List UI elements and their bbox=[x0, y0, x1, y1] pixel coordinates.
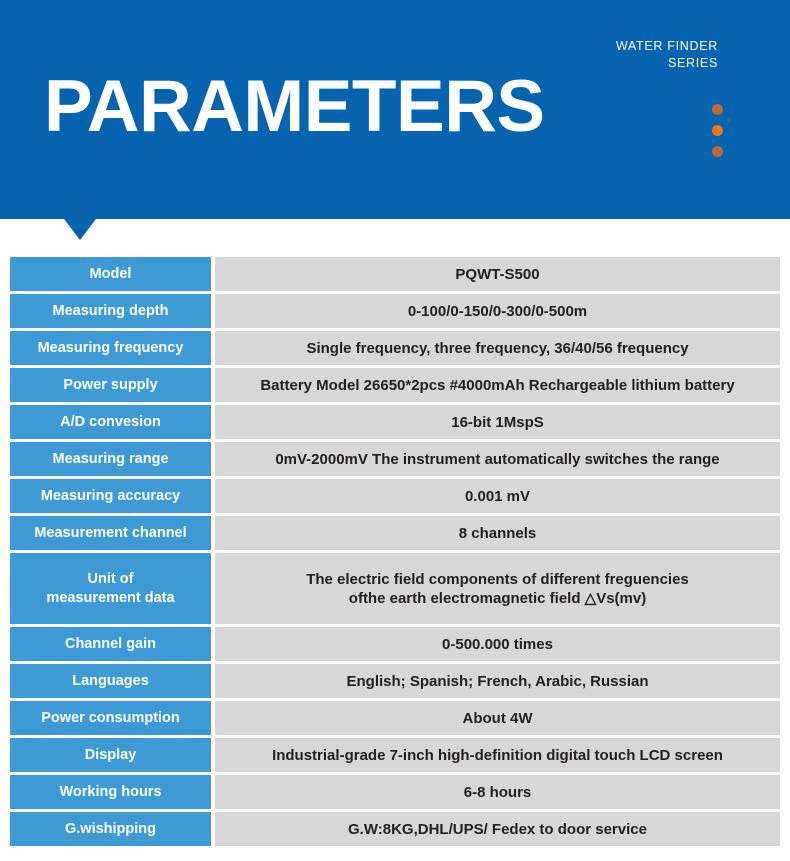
spec-value-cell: Battery Model 26650*2pcs #4000mAh Rechar… bbox=[215, 368, 780, 405]
dot-icon-3 bbox=[712, 146, 723, 157]
spec-value-cell: 0mV-2000mV The instrument automatically … bbox=[215, 442, 780, 479]
header-pointer-triangle bbox=[64, 219, 96, 240]
table-row: Channel gain0-500.000 times bbox=[10, 627, 780, 664]
series-label-line2: SERIES bbox=[616, 55, 718, 72]
series-label: WATER FINDER SERIES bbox=[616, 38, 718, 72]
spec-label-cell: Measurement channel bbox=[10, 516, 215, 553]
spec-label-cell: Model bbox=[10, 257, 215, 294]
spec-value-cell: Industrial-grade 7-inch high-definition … bbox=[215, 738, 780, 775]
table-row: Measuring depth0-100/0-150/0-300/0-500m bbox=[10, 294, 780, 331]
spec-value-cell: About 4W bbox=[215, 701, 780, 738]
table-row: Unit of measurement dataThe electric fie… bbox=[10, 553, 780, 627]
table-row: Measuring frequencySingle frequency, thr… bbox=[10, 331, 780, 368]
spec-value-cell: G.W:8KG,DHL/UPS/ Fedex to door service bbox=[215, 812, 780, 849]
table-row: Power consumptionAbout 4W bbox=[10, 701, 780, 738]
decorative-dots bbox=[712, 104, 726, 167]
table-row: ModelPQWT-S500 bbox=[10, 257, 780, 294]
spec-label-cell: Measuring depth bbox=[10, 294, 215, 331]
spec-value-cell: English; Spanish; French, Arabic, Russia… bbox=[215, 664, 780, 701]
spec-label-cell: Power supply bbox=[10, 368, 215, 405]
spec-value-cell: 0-500.000 times bbox=[215, 627, 780, 664]
series-label-line1: WATER FINDER bbox=[616, 38, 718, 55]
spec-value-cell: 0.001 mV bbox=[215, 479, 780, 516]
spec-value-cell: 0-100/0-150/0-300/0-500m bbox=[215, 294, 780, 331]
table-row: Measurement channel8 channels bbox=[10, 516, 780, 553]
spec-value-cell: Single frequency, three frequency, 36/40… bbox=[215, 331, 780, 368]
spec-label-cell: A/D convesion bbox=[10, 405, 215, 442]
table-row: G.wishippingG.W:8KG,DHL/UPS/ Fedex to do… bbox=[10, 812, 780, 849]
spec-label-cell: Power consumption bbox=[10, 701, 215, 738]
table-row: Power supplyBattery Model 26650*2pcs #40… bbox=[10, 368, 780, 405]
spec-value-cell: 8 channels bbox=[215, 516, 780, 553]
spec-label-cell: Measuring frequency bbox=[10, 331, 215, 368]
spec-value-cell: The electric field components of differe… bbox=[215, 553, 780, 627]
spec-label-cell: Languages bbox=[10, 664, 215, 701]
dot-icon-2 bbox=[712, 125, 723, 136]
specifications-table: ModelPQWT-S500Measuring depth0-100/0-150… bbox=[10, 257, 780, 849]
table-row: LanguagesEnglish; Spanish; French, Arabi… bbox=[10, 664, 780, 701]
table-row: DisplayIndustrial-grade 7-inch high-defi… bbox=[10, 738, 780, 775]
spec-value-cell: 16-bit 1MspS bbox=[215, 405, 780, 442]
table-row: Measuring range0mV-2000mV The instrument… bbox=[10, 442, 780, 479]
spec-label-cell: Measuring range bbox=[10, 442, 215, 479]
spec-label-cell: Channel gain bbox=[10, 627, 215, 664]
table-row: Measuring accuracy0.001 mV bbox=[10, 479, 780, 516]
page-header: PARAMETERS WATER FINDER SERIES bbox=[0, 0, 790, 219]
table-row: Working hours6-8 hours bbox=[10, 775, 780, 812]
spec-value-cell: PQWT-S500 bbox=[215, 257, 780, 294]
table-row: A/D convesion16-bit 1MspS bbox=[10, 405, 780, 442]
page-title: PARAMETERS bbox=[44, 70, 545, 143]
spec-label-cell: Unit of measurement data bbox=[10, 553, 215, 627]
spec-label-cell: Measuring accuracy bbox=[10, 479, 215, 516]
spec-value-cell: 6-8 hours bbox=[215, 775, 780, 812]
spec-label-cell: Display bbox=[10, 738, 215, 775]
spec-label-cell: Working hours bbox=[10, 775, 215, 812]
dot-icon-1 bbox=[712, 104, 723, 115]
spec-label-cell: G.wishipping bbox=[10, 812, 215, 849]
